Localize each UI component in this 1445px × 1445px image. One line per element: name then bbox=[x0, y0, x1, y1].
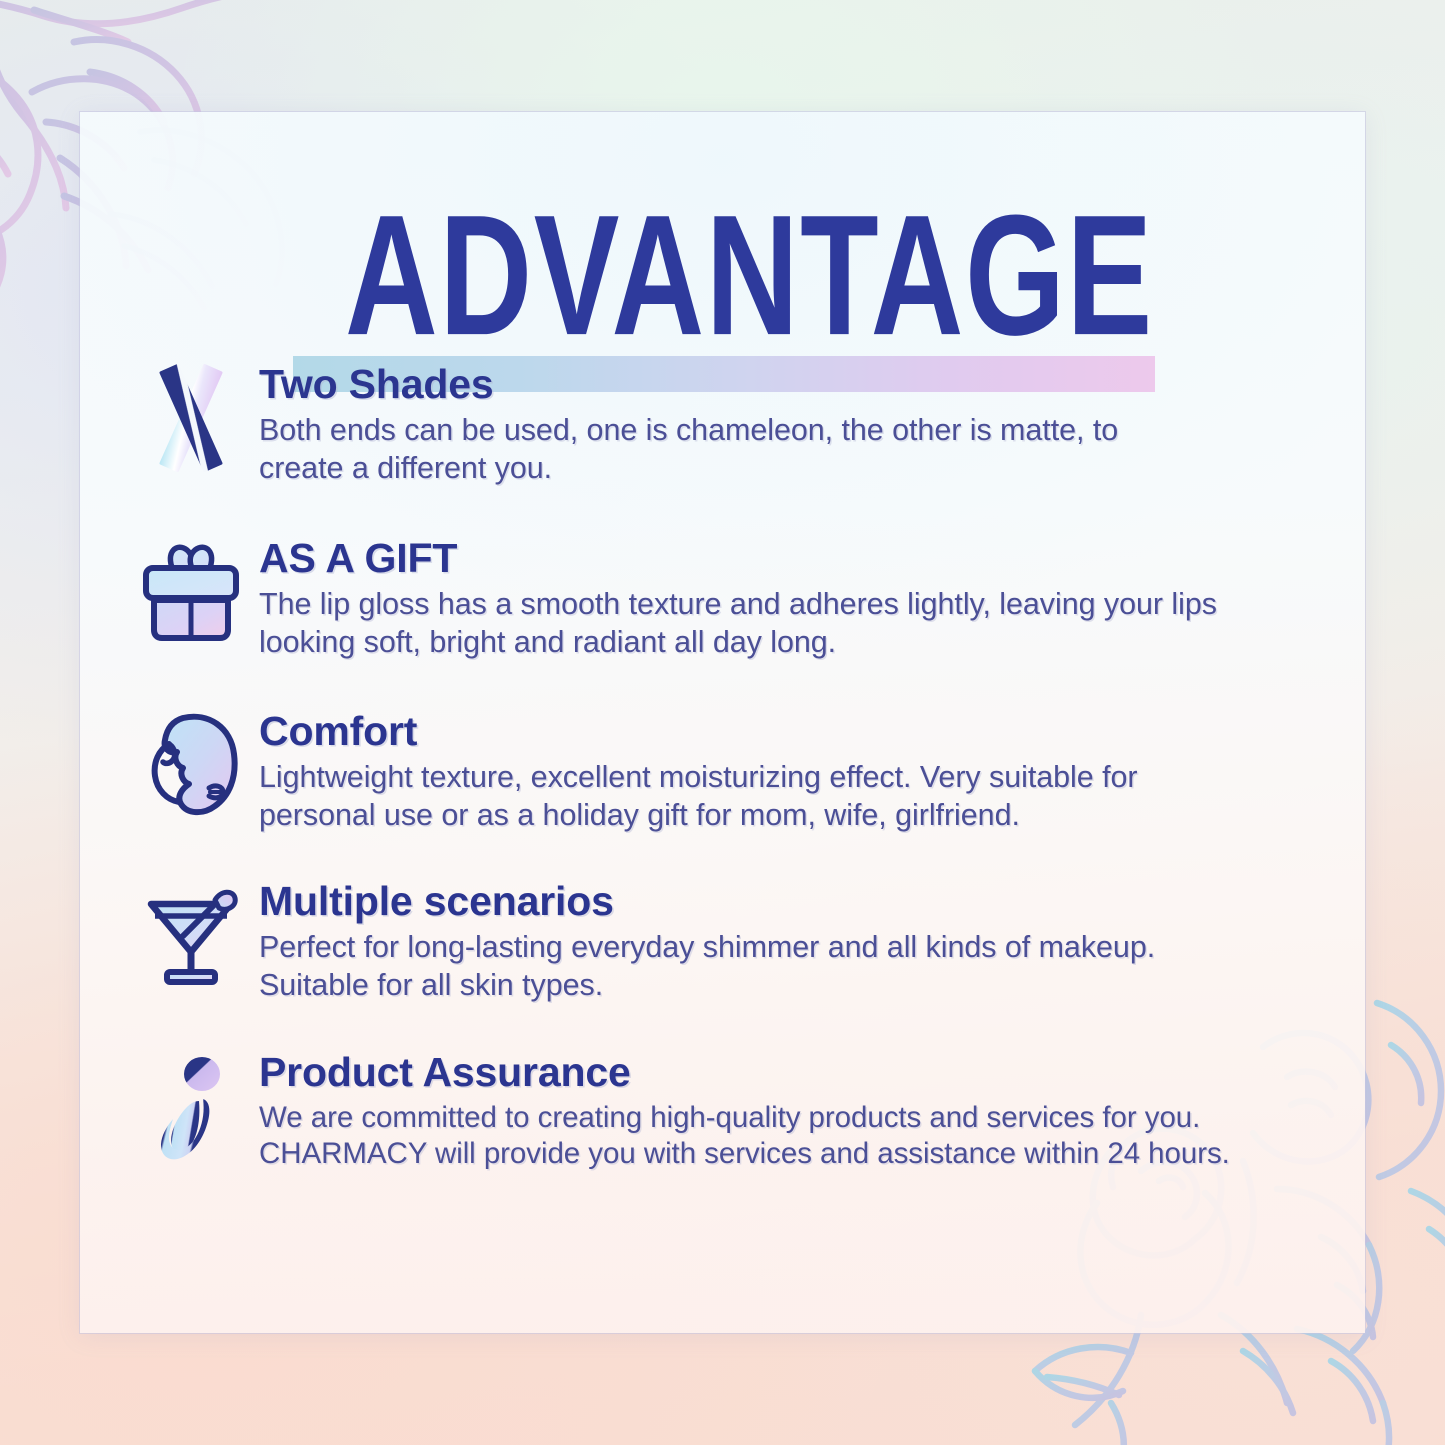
feature-item-as-a-gift: AS A GIFT The lip gloss has a smooth tex… bbox=[80, 531, 1365, 661]
feature-title: AS A GIFT bbox=[259, 537, 1365, 581]
page-title-block: ADVANTAGE bbox=[293, 190, 1173, 330]
feature-item-product-assurance: Product Assurance We are committed to cr… bbox=[80, 1045, 1365, 1173]
feature-list: Two Shades Both ends can be used, one is… bbox=[80, 357, 1365, 1213]
feature-item-comfort: Comfort Lightweight texture, excellent m… bbox=[80, 704, 1365, 834]
feature-title: Comfort bbox=[259, 710, 1365, 754]
feature-item-two-shades: Two Shades Both ends can be used, one is… bbox=[80, 357, 1365, 487]
content-card: ADVANTAGE bbox=[80, 112, 1365, 1333]
page-title: ADVANTAGE bbox=[345, 190, 1154, 361]
feature-description: We are committed to creating high-qualit… bbox=[259, 1100, 1365, 1173]
feature-title: Two Shades bbox=[259, 363, 1365, 407]
feature-description: Both ends can be used, one is chameleon,… bbox=[259, 412, 1365, 488]
feature-item-multiple-scenarios: Multiple scenarios Perfect for long-last… bbox=[80, 874, 1365, 1004]
infographic-canvas: ADVANTAGE bbox=[0, 0, 1445, 1445]
crossed-lipstick-sticks-icon bbox=[132, 359, 250, 477]
cocktail-glass-icon bbox=[132, 876, 250, 994]
feature-title: Product Assurance bbox=[259, 1051, 1365, 1095]
feature-title: Multiple scenarios bbox=[259, 880, 1365, 924]
feature-description: Perfect for long-lasting everyday shimme… bbox=[259, 929, 1365, 1005]
feature-description: Lightweight texture, excellent moisturiz… bbox=[259, 759, 1365, 835]
feature-description: The lip gloss has a smooth texture and a… bbox=[259, 586, 1365, 662]
info-italic-i-icon bbox=[132, 1051, 250, 1169]
gift-box-icon bbox=[132, 533, 250, 651]
woman-face-profile-icon bbox=[132, 706, 250, 824]
